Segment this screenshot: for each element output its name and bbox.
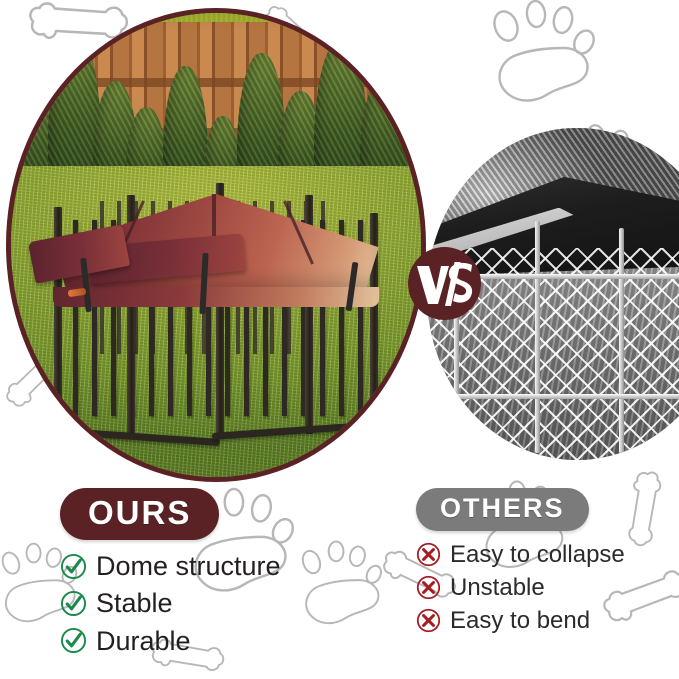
others-column: OTHERS Easy to collapse Unstable <box>416 488 625 634</box>
chain-rail <box>427 394 679 399</box>
infographic-canvas: OURS Dome structure Stable <box>0 0 679 679</box>
feature-label: Easy to bend <box>450 608 590 633</box>
cross-circle-icon <box>416 542 441 567</box>
cross-circle-icon <box>416 608 441 633</box>
check-circle-icon <box>60 590 87 617</box>
ours-photo-scene <box>11 13 421 477</box>
ours-product-photo <box>6 8 426 482</box>
list-item: Dome structure <box>60 552 281 580</box>
ours-feature-list: Dome structure Stable Durable <box>60 552 281 655</box>
cross-circle-icon <box>416 575 441 600</box>
feature-label: Stable <box>96 589 173 617</box>
others-badge: OTHERS <box>416 488 589 531</box>
chain-post <box>619 228 624 454</box>
vs-badge <box>408 247 481 320</box>
vs-badge-text <box>415 262 475 306</box>
canopy-skirt <box>53 287 379 307</box>
kennel-base-rail <box>50 427 220 446</box>
list-item: Durable <box>60 627 281 655</box>
others-feature-list: Easy to collapse Unstable Easy to bend <box>416 542 625 634</box>
list-item: Unstable <box>416 575 625 600</box>
kennel-canopy <box>31 177 401 299</box>
feature-label: Dome structure <box>96 552 281 580</box>
dome-kennel-structure <box>23 152 408 458</box>
list-item: Easy to collapse <box>416 542 625 567</box>
feature-label: Easy to collapse <box>450 542 625 567</box>
kennel-base-rail <box>212 421 382 440</box>
check-circle-icon <box>60 553 87 580</box>
ours-badge: OURS <box>60 488 219 540</box>
comparison-columns: OURS Dome structure Stable <box>0 488 679 679</box>
feature-label: Durable <box>96 627 191 655</box>
list-item: Easy to bend <box>416 608 625 633</box>
ours-column: OURS Dome structure Stable <box>60 488 281 655</box>
chain-post <box>535 221 540 453</box>
feature-label: Unstable <box>450 575 545 600</box>
check-circle-icon <box>60 627 87 654</box>
paw-print-icon <box>491 0 598 100</box>
list-item: Stable <box>60 589 281 617</box>
